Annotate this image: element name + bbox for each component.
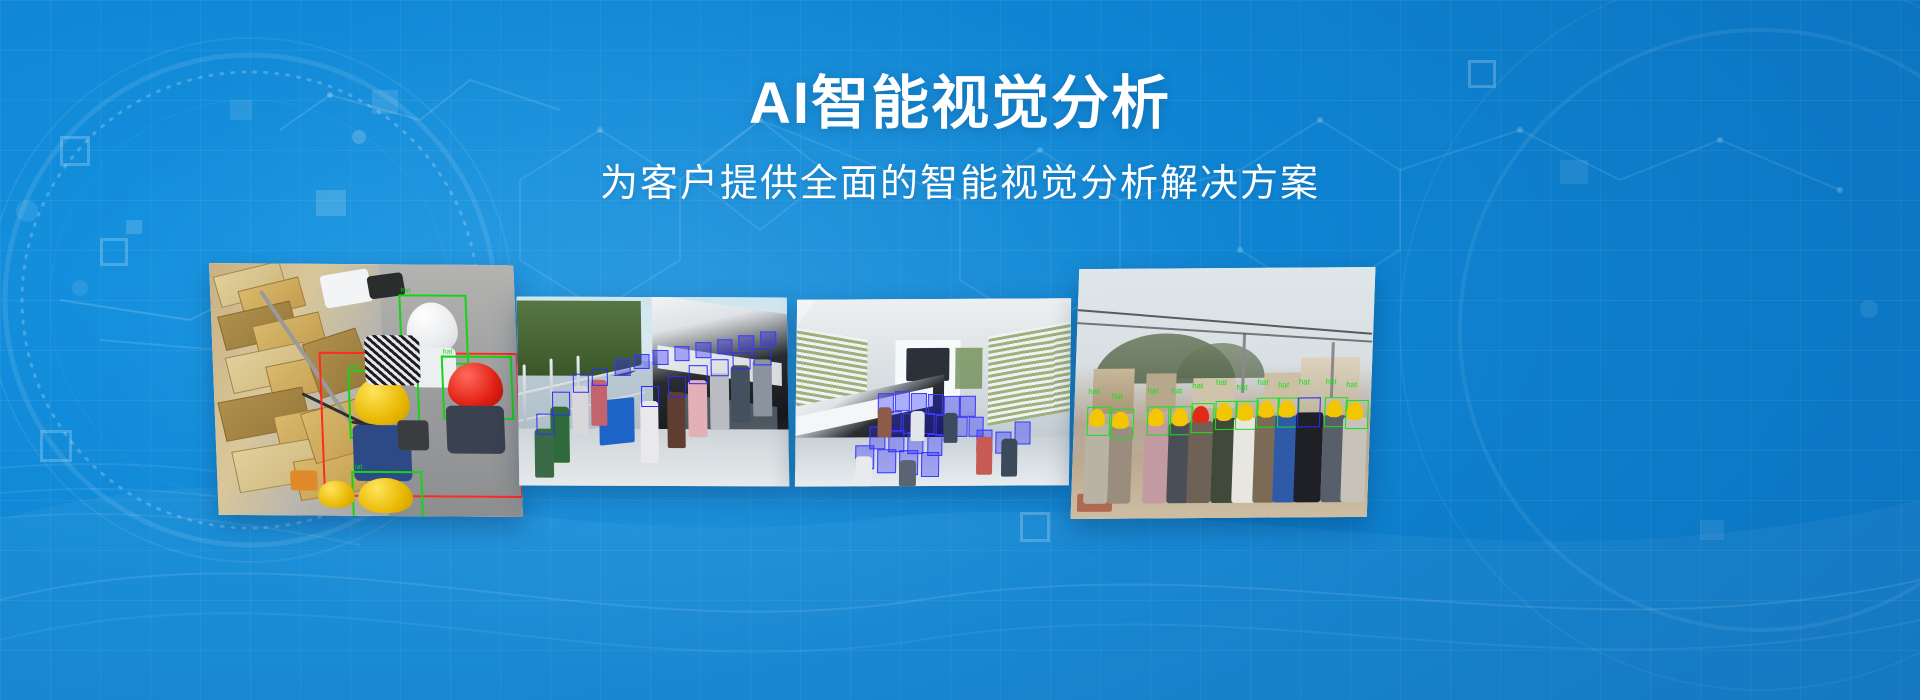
- detection-label: hat: [1236, 383, 1247, 392]
- detection-box-person: [911, 393, 927, 414]
- detection-box-face: [739, 335, 755, 350]
- detection-box-person: [894, 391, 910, 412]
- detection-box-person: [877, 449, 896, 474]
- detection-box-hat: [1146, 406, 1170, 436]
- photo-station-canopy-crowd: [795, 298, 1071, 486]
- detection-box-face: [552, 391, 571, 416]
- detection-box-person: [927, 394, 943, 415]
- detection-box-face: [668, 376, 686, 397]
- detection-label: hat: [349, 362, 359, 372]
- detection-box-face: [652, 350, 668, 365]
- banner-subtitle: 为客户提供全面的智能视觉分析解决方案: [0, 162, 1920, 208]
- detection-box-face: [754, 348, 772, 365]
- detection-box-person: [960, 396, 976, 417]
- banner-title: AI智能视觉分析: [0, 72, 1920, 136]
- detection-box-face: [641, 386, 659, 407]
- detection-box-face: [615, 359, 631, 376]
- detection-box-hat: [1087, 406, 1111, 436]
- card-photo-frame: hat hat hat hat hat: [1071, 267, 1376, 519]
- detection-label: hat: [1216, 378, 1227, 387]
- detection-box-face: [717, 339, 733, 354]
- card-photo-frame: [795, 298, 1071, 486]
- detection-box-face: [634, 354, 650, 369]
- detection-box-person: [921, 452, 940, 477]
- detection-label: hat: [1112, 391, 1123, 400]
- card-photo-frame: hat hat hat hat: [209, 263, 523, 517]
- detection-label: hat: [1192, 381, 1203, 390]
- detection-box-face: [689, 365, 707, 384]
- detection-box-hat: [1345, 399, 1369, 429]
- gallery-card-walkway-face-detection[interactable]: [517, 297, 790, 487]
- detection-label: hat: [442, 347, 452, 357]
- detection-box-face: [674, 346, 690, 361]
- detection-box-hat: [1110, 409, 1134, 439]
- detection-label: hat: [1278, 380, 1289, 389]
- detection-box-head: [1297, 397, 1321, 427]
- detection-box-face: [760, 331, 776, 346]
- detection-box-face: [592, 369, 608, 386]
- detection-box-face: [732, 352, 750, 369]
- photo-outdoor-group-hats: hat hat hat hat hat: [1071, 267, 1376, 519]
- detection-box-face: [696, 343, 712, 358]
- detection-box-face: [711, 360, 729, 377]
- photo-warehouse-topdown: hat hat hat hat: [209, 263, 523, 517]
- detection-label: hat: [1088, 386, 1099, 395]
- detection-label: hat: [1257, 378, 1268, 387]
- detection-label: hat: [353, 462, 363, 472]
- gallery-card-outdoor-hat-detection[interactable]: hat hat hat hat hat: [1071, 267, 1376, 519]
- banner-text-block: AI智能视觉分析 为客户提供全面的智能视觉分析解决方案: [0, 72, 1920, 207]
- detection-box-hat: [1191, 403, 1215, 433]
- photo-walkway-crowd: [517, 297, 790, 487]
- gallery-card-station-crowd-detection[interactable]: [795, 298, 1071, 486]
- ai-vision-banner: AI智能视觉分析 为客户提供全面的智能视觉分析解决方案: [0, 0, 1920, 700]
- detection-label: hat: [1346, 380, 1357, 389]
- detection-box-face: [573, 374, 589, 393]
- detection-label: hat: [1325, 377, 1336, 386]
- card-photo-frame: [517, 297, 790, 487]
- detection-label: hat: [1171, 386, 1182, 395]
- gallery-card-warehouse-helmet-detection[interactable]: hat hat hat hat: [209, 263, 523, 517]
- detection-label: hat: [401, 287, 411, 297]
- detection-box-face: [536, 414, 554, 435]
- detection-label: hat: [1299, 377, 1310, 386]
- detection-label: hat: [1147, 386, 1158, 395]
